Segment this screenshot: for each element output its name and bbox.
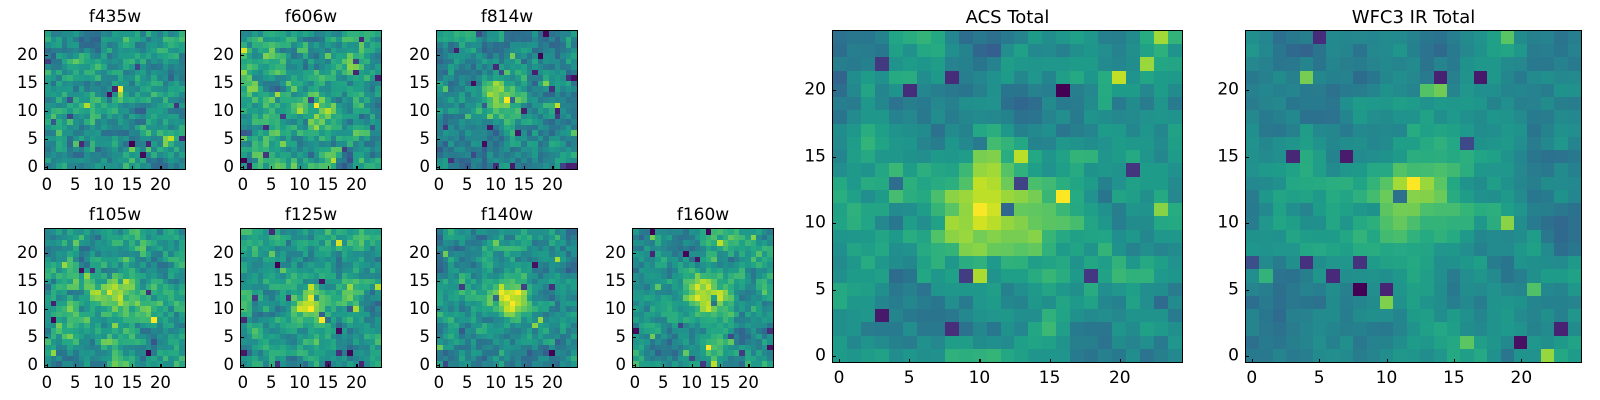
y-tick-mark [436, 167, 440, 168]
y-tick-label: 15 [388, 273, 430, 290]
x-tick-label: 20 [346, 375, 367, 392]
x-tick-label: 15 [122, 177, 143, 194]
panel-title: f606w [240, 9, 382, 26]
x-tick-mark [467, 166, 468, 170]
y-tick-mark [832, 223, 836, 224]
y-tick-label: 15 [1197, 148, 1239, 165]
x-tick-label: 15 [318, 177, 339, 194]
heatmap-axes[interactable] [240, 30, 382, 170]
x-tick-mark [524, 166, 525, 170]
x-tick-label: 5 [70, 375, 81, 392]
x-tick-label: 0 [238, 375, 249, 392]
y-tick-label: 10 [0, 301, 38, 318]
x-tick-mark [720, 364, 721, 368]
y-tick-label: 0 [192, 357, 234, 374]
y-tick-label: 0 [584, 357, 626, 374]
y-tick-mark [44, 365, 48, 366]
y-tick-mark [1245, 157, 1249, 158]
x-tick-mark [1521, 359, 1522, 363]
heatmap-pixels [241, 31, 381, 169]
x-tick-label: 5 [462, 375, 473, 392]
panel-title: ACS Total [832, 9, 1183, 27]
x-tick-label: 0 [434, 375, 445, 392]
heatmap-axes[interactable] [44, 228, 186, 368]
y-tick-label: 20 [192, 47, 234, 64]
heatmap-axes[interactable] [632, 228, 774, 368]
x-tick-label: 10 [485, 375, 506, 392]
x-tick-mark [1050, 359, 1051, 363]
x-tick-label: 0 [434, 177, 445, 194]
x-tick-label: 10 [969, 370, 991, 387]
x-tick-label: 0 [834, 370, 845, 387]
y-tick-label: 15 [0, 75, 38, 92]
x-tick-mark [552, 364, 553, 368]
x-tick-label: 5 [462, 177, 473, 194]
x-tick-mark [524, 364, 525, 368]
panel-title: WFC3 IR Total [1245, 9, 1582, 27]
heatmap-axes[interactable] [240, 228, 382, 368]
y-tick-mark [632, 253, 636, 254]
y-tick-mark [240, 365, 244, 366]
y-tick-mark [44, 253, 48, 254]
x-tick-label: 5 [1314, 370, 1325, 387]
x-tick-mark [300, 166, 301, 170]
x-tick-mark [328, 364, 329, 368]
y-tick-mark [832, 90, 836, 91]
x-tick-mark [160, 364, 161, 368]
y-tick-label: 10 [1197, 215, 1239, 232]
y-tick-mark [436, 83, 440, 84]
y-tick-mark [832, 356, 836, 357]
y-tick-mark [436, 111, 440, 112]
y-tick-mark [1245, 356, 1249, 357]
y-tick-mark [832, 290, 836, 291]
x-tick-mark [1252, 359, 1253, 363]
heatmap-axes[interactable] [436, 30, 578, 170]
x-tick-mark [839, 359, 840, 363]
x-tick-mark [1454, 359, 1455, 363]
x-tick-label: 20 [542, 375, 563, 392]
y-tick-mark [832, 157, 836, 158]
x-tick-label: 10 [93, 375, 114, 392]
y-tick-mark [240, 337, 244, 338]
x-tick-label: 5 [266, 375, 277, 392]
x-tick-mark [300, 364, 301, 368]
y-tick-mark [1245, 290, 1249, 291]
heatmap-pixels [241, 229, 381, 367]
y-tick-mark [436, 309, 440, 310]
x-tick-label: 20 [738, 375, 759, 392]
x-tick-mark [552, 166, 553, 170]
heatmap-pixels [45, 31, 185, 169]
x-tick-label: 10 [289, 375, 310, 392]
panel-title: f435w [44, 9, 186, 26]
y-tick-mark [632, 309, 636, 310]
y-tick-label: 15 [0, 273, 38, 290]
heatmap-axes[interactable] [436, 228, 578, 368]
y-tick-label: 5 [388, 131, 430, 148]
x-tick-mark [75, 364, 76, 368]
x-tick-mark [1319, 359, 1320, 363]
x-tick-label: 0 [42, 177, 53, 194]
y-tick-label: 15 [784, 148, 826, 165]
y-tick-mark [436, 139, 440, 140]
x-tick-mark [75, 166, 76, 170]
panel-title: f160w [632, 207, 774, 224]
x-tick-mark [1387, 359, 1388, 363]
x-tick-label: 0 [630, 375, 641, 392]
y-tick-label: 20 [192, 245, 234, 262]
x-tick-mark [132, 364, 133, 368]
x-tick-mark [663, 364, 664, 368]
x-tick-label: 5 [266, 177, 277, 194]
x-tick-mark [104, 364, 105, 368]
heatmap-axes[interactable] [1245, 30, 1582, 363]
heatmap-pixels [1246, 31, 1581, 362]
panel-title: f140w [436, 207, 578, 224]
x-tick-label: 15 [1443, 370, 1465, 387]
y-tick-mark [436, 365, 440, 366]
x-tick-mark [356, 364, 357, 368]
y-tick-label: 5 [784, 281, 826, 298]
heatmap-pixels [633, 229, 773, 367]
y-tick-label: 0 [192, 159, 234, 176]
x-tick-mark [692, 364, 693, 368]
x-tick-mark [1120, 359, 1121, 363]
y-tick-mark [1245, 90, 1249, 91]
x-tick-label: 5 [70, 177, 81, 194]
x-tick-mark [748, 364, 749, 368]
y-tick-label: 20 [1197, 81, 1239, 98]
y-tick-label: 15 [388, 75, 430, 92]
y-tick-label: 5 [192, 131, 234, 148]
y-tick-label: 10 [192, 103, 234, 120]
x-tick-label: 15 [710, 375, 731, 392]
y-tick-label: 5 [1197, 281, 1239, 298]
y-tick-mark [44, 83, 48, 84]
y-tick-label: 20 [0, 47, 38, 64]
x-tick-label: 10 [485, 177, 506, 194]
y-tick-mark [632, 337, 636, 338]
y-tick-label: 15 [584, 273, 626, 290]
heatmap-axes[interactable] [44, 30, 186, 170]
x-tick-label: 15 [1039, 370, 1061, 387]
y-tick-mark [44, 309, 48, 310]
panel-title: f105w [44, 207, 186, 224]
x-tick-label: 20 [150, 375, 171, 392]
y-tick-label: 0 [1197, 348, 1239, 365]
x-tick-label: 0 [1246, 370, 1257, 387]
y-tick-mark [44, 55, 48, 56]
x-tick-label: 5 [658, 375, 669, 392]
x-tick-label: 5 [904, 370, 915, 387]
y-tick-mark [240, 55, 244, 56]
y-tick-label: 0 [784, 348, 826, 365]
x-tick-mark [271, 364, 272, 368]
x-tick-mark [271, 166, 272, 170]
x-tick-mark [979, 359, 980, 363]
x-tick-mark [104, 166, 105, 170]
y-tick-mark [240, 253, 244, 254]
y-tick-label: 0 [0, 159, 38, 176]
heatmap-pixels [437, 229, 577, 367]
y-tick-mark [240, 281, 244, 282]
y-tick-label: 10 [388, 301, 430, 318]
y-tick-mark [1245, 223, 1249, 224]
panel-title: f125w [240, 207, 382, 224]
y-tick-label: 5 [192, 329, 234, 346]
y-tick-label: 5 [0, 329, 38, 346]
y-tick-label: 10 [584, 301, 626, 318]
y-tick-label: 0 [388, 357, 430, 374]
x-tick-mark [909, 359, 910, 363]
panel-title: f814w [436, 9, 578, 26]
y-tick-label: 10 [0, 103, 38, 120]
y-tick-mark [240, 309, 244, 310]
y-tick-mark [44, 337, 48, 338]
y-tick-label: 20 [584, 245, 626, 262]
x-tick-label: 20 [346, 177, 367, 194]
x-tick-mark [328, 166, 329, 170]
y-tick-mark [44, 139, 48, 140]
x-tick-label: 20 [150, 177, 171, 194]
y-tick-mark [240, 167, 244, 168]
y-tick-label: 15 [192, 273, 234, 290]
x-tick-label: 15 [514, 375, 535, 392]
y-tick-label: 10 [784, 215, 826, 232]
x-tick-label: 10 [1376, 370, 1398, 387]
x-tick-label: 10 [289, 177, 310, 194]
y-tick-label: 0 [388, 159, 430, 176]
x-tick-mark [132, 166, 133, 170]
heatmap-pixels [833, 31, 1182, 362]
y-tick-label: 20 [784, 81, 826, 98]
y-tick-mark [632, 365, 636, 366]
y-tick-mark [240, 83, 244, 84]
y-tick-label: 15 [192, 75, 234, 92]
y-tick-mark [44, 281, 48, 282]
y-tick-label: 0 [0, 357, 38, 374]
x-tick-mark [496, 166, 497, 170]
x-tick-label: 0 [238, 177, 249, 194]
y-tick-mark [436, 253, 440, 254]
x-tick-label: 20 [1511, 370, 1533, 387]
y-tick-label: 5 [388, 329, 430, 346]
y-tick-mark [436, 337, 440, 338]
x-tick-label: 15 [318, 375, 339, 392]
y-tick-label: 10 [388, 103, 430, 120]
heatmap-pixels [45, 229, 185, 367]
y-tick-mark [44, 111, 48, 112]
x-tick-label: 20 [1109, 370, 1131, 387]
x-tick-mark [356, 166, 357, 170]
x-tick-mark [496, 364, 497, 368]
y-tick-label: 20 [388, 47, 430, 64]
x-tick-mark [467, 364, 468, 368]
x-tick-label: 0 [42, 375, 53, 392]
heatmap-pixels [437, 31, 577, 169]
x-tick-mark [160, 166, 161, 170]
y-tick-mark [436, 55, 440, 56]
figure-canvas: f435w0510152005101520f606w05101520051015… [0, 0, 1600, 400]
y-tick-label: 5 [0, 131, 38, 148]
x-tick-label: 10 [93, 177, 114, 194]
y-tick-mark [44, 167, 48, 168]
y-tick-mark [436, 281, 440, 282]
x-tick-label: 15 [122, 375, 143, 392]
y-tick-label: 20 [0, 245, 38, 262]
y-tick-label: 20 [388, 245, 430, 262]
y-tick-label: 10 [192, 301, 234, 318]
y-tick-label: 5 [584, 329, 626, 346]
y-tick-mark [240, 139, 244, 140]
x-tick-label: 15 [514, 177, 535, 194]
x-tick-label: 20 [542, 177, 563, 194]
y-tick-mark [632, 281, 636, 282]
y-tick-mark [240, 111, 244, 112]
x-tick-label: 10 [681, 375, 702, 392]
heatmap-axes[interactable] [832, 30, 1183, 363]
